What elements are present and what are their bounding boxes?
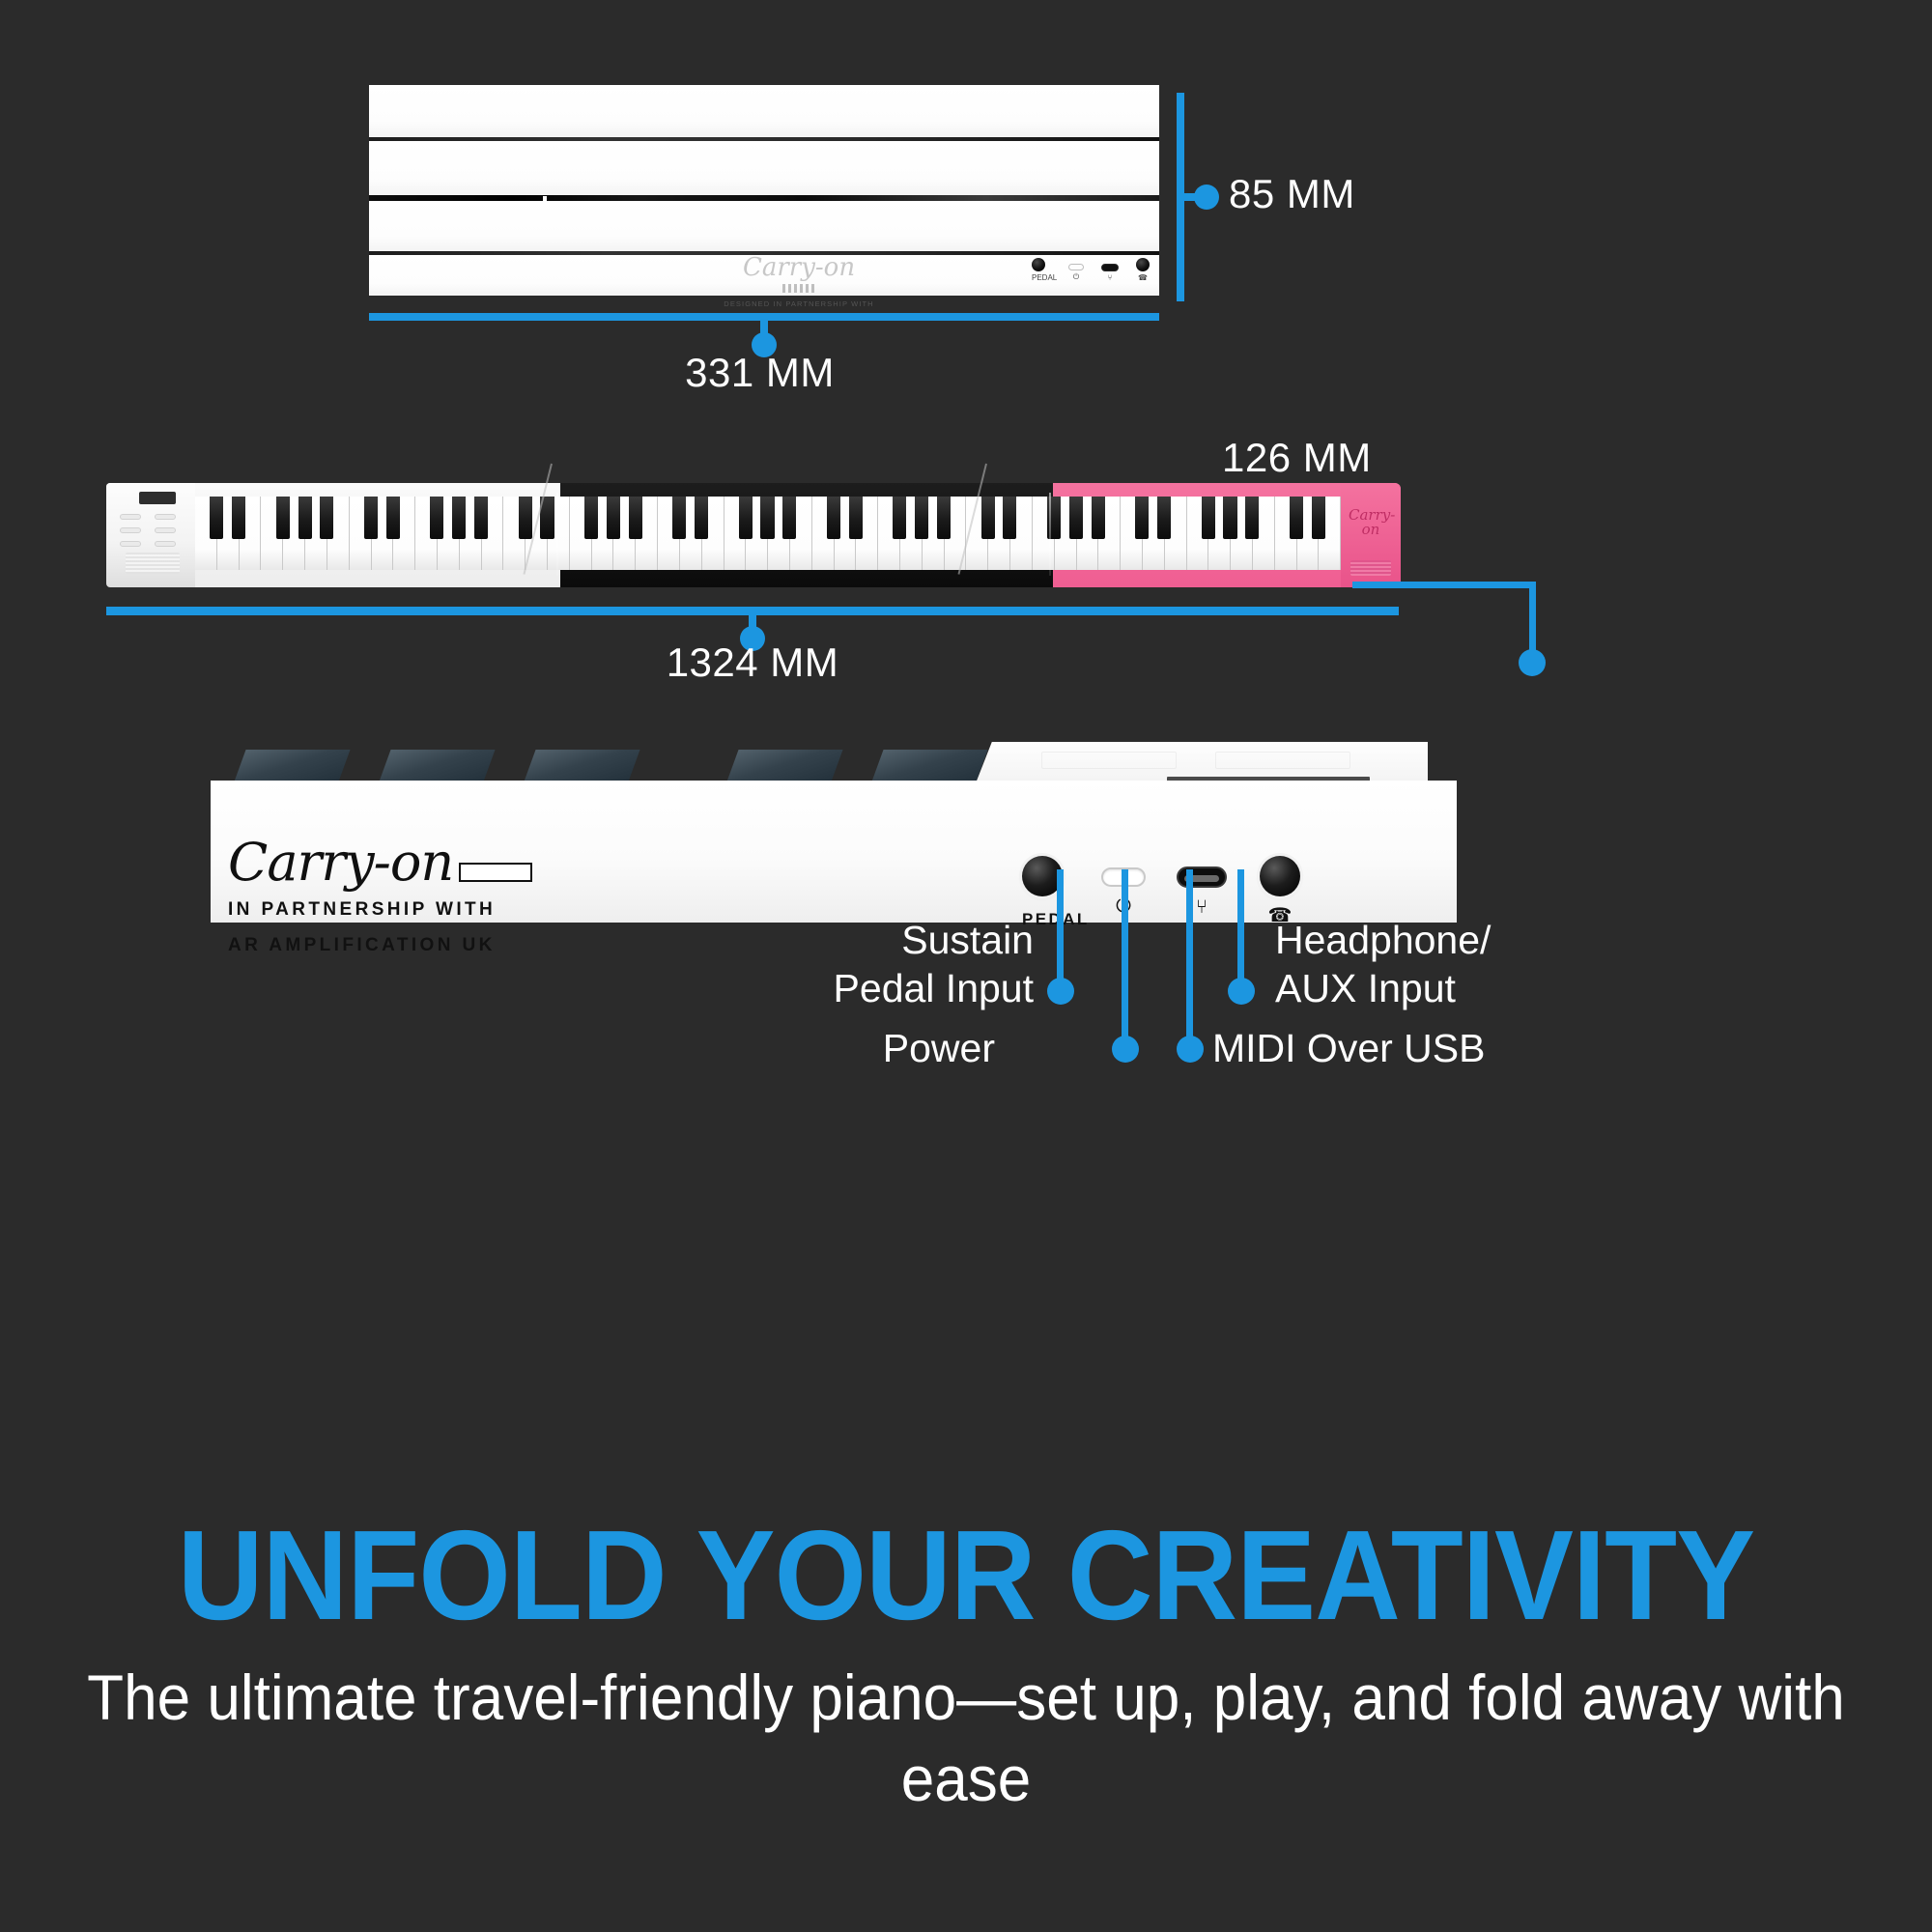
black-key[interactable] [695, 497, 708, 539]
black-key[interactable] [607, 497, 620, 539]
rear-piano-keys-icon [459, 863, 532, 882]
depth-dimension-label: 126 MM [1222, 435, 1372, 481]
black-key[interactable] [430, 497, 443, 539]
rear-black-key-3 [523, 750, 639, 784]
black-key[interactable] [519, 497, 532, 539]
height-dimension-dot [1194, 185, 1219, 210]
black-key[interactable] [849, 497, 863, 539]
black-key[interactable] [981, 497, 995, 539]
black-key[interactable] [1092, 497, 1105, 539]
unfolded-keyboard-image: Carry-on [106, 483, 1401, 587]
usb-c-icon [1101, 264, 1119, 271]
black-key[interactable] [1135, 497, 1149, 539]
black-key[interactable] [1223, 497, 1236, 539]
black-key[interactable] [1202, 497, 1215, 539]
black-key[interactable] [364, 497, 378, 539]
piano-keybed[interactable] [195, 497, 1341, 570]
control-button-1[interactable] [120, 514, 141, 520]
black-key[interactable] [1245, 497, 1259, 539]
endcap-brand-logo: Carry-on [1349, 508, 1393, 537]
black-key[interactable] [320, 497, 333, 539]
black-key[interactable] [276, 497, 290, 539]
pedal-jack-icon [1032, 258, 1045, 271]
power-callout-line [1122, 869, 1128, 1045]
midi-usb-callout-label: MIDI Over USB [1212, 1024, 1485, 1072]
black-key[interactable] [1069, 497, 1083, 539]
rear-black-key-4 [725, 750, 842, 784]
black-key[interactable] [210, 497, 223, 539]
rear-partnership-line-2: AR AMPLIFICATION UK [228, 932, 576, 960]
rear-brand-row: Carry-on [228, 837, 576, 889]
folded-pedal-jack: PEDAL [1032, 258, 1057, 282]
control-button-3[interactable] [120, 527, 141, 533]
control-button-6[interactable] [155, 541, 176, 547]
piano-keys-icon [782, 284, 815, 293]
headphone-jack-icon [1136, 258, 1150, 271]
sustain-pedal-callout-label: Sustain Pedal Input [580, 916, 1034, 1012]
headphone-jack-icon [1260, 856, 1300, 896]
brand-script-text: Carry-on [688, 255, 910, 280]
folded-keyboard-image: Carry-on DESIGNED IN PARTNERSHIP WITH BL… [369, 85, 1159, 296]
hinge-left [556, 493, 558, 576]
control-button-4[interactable] [155, 527, 176, 533]
speaker-grille [126, 553, 180, 574]
control-button-2[interactable] [155, 514, 176, 520]
rear-black-key-2 [378, 750, 495, 784]
depth-dimension-dot [1519, 649, 1546, 676]
black-key[interactable] [827, 497, 840, 539]
usb-c-icon [1177, 867, 1227, 888]
black-key[interactable] [672, 497, 686, 539]
black-key[interactable] [452, 497, 466, 539]
black-key[interactable] [1157, 497, 1171, 539]
infographic-canvas: Carry-on DESIGNED IN PARTNERSHIP WITH BL… [0, 0, 1932, 1932]
depth-dimension-h-line [1352, 582, 1536, 588]
black-key[interactable] [760, 497, 774, 539]
keyboard-endcap-pink: Carry-on [1341, 483, 1401, 587]
power-callout-label: Power [715, 1024, 995, 1072]
rear-face-panel: Carry-on IN PARTNERSHIP WITH AR AMPLIFIC… [211, 781, 1457, 923]
endcap-speaker-grille [1350, 560, 1391, 576]
rear-black-key-1 [233, 750, 350, 784]
black-key[interactable] [937, 497, 951, 539]
usb-icon: ⑂ [1101, 273, 1119, 282]
black-key[interactable] [298, 497, 312, 539]
black-key[interactable] [893, 497, 906, 539]
rear-black-key-5 [870, 750, 987, 784]
midi-usb-callout-dot [1177, 1036, 1204, 1063]
height-dimension-label: 85 MM [1229, 171, 1355, 217]
black-key[interactable] [386, 497, 400, 539]
midi-usb-callout-line [1186, 869, 1193, 1045]
partnership-line-1: DESIGNED IN PARTNERSHIP WITH [688, 299, 910, 309]
width-dimension-label: 331 MM [0, 350, 1520, 396]
headphone-aux-callout-label: Headphone/ AUX Input [1275, 916, 1491, 1012]
folded-usb-port: ⑂ [1101, 264, 1119, 282]
hinge-right [1049, 493, 1051, 576]
folded-ports-group: PEDAL ⏻ ⑂ ☎ [1028, 259, 1153, 294]
height-dimension-line [1177, 93, 1184, 301]
usb-c-port[interactable]: ⑂ [1177, 856, 1227, 917]
fold-layer-3 [369, 201, 1159, 251]
folded-power-switch: ⏻ [1068, 264, 1084, 282]
rear-panel-image: Carry-on IN PARTNERSHIP WITH AR AMPLIFIC… [211, 734, 1457, 923]
rear-brand-logo: Carry-on IN PARTNERSHIP WITH AR AMPLIFIC… [228, 837, 576, 959]
rear-brand-script: Carry-on [228, 832, 453, 893]
power-callout-dot [1112, 1036, 1139, 1063]
black-key[interactable] [1003, 497, 1016, 539]
rear-panel-mark-2 [1215, 752, 1350, 769]
rear-partnership-line-1: IN PARTNERSHIP WITH [228, 896, 576, 924]
fold-layer-1 [369, 85, 1159, 137]
headphone-aux-callout-line [1237, 869, 1244, 990]
page-headline: UNFOLD YOUR CREATIVITY [68, 1502, 1864, 1648]
black-key[interactable] [584, 497, 598, 539]
headphone-aux-callout-dot [1228, 978, 1255, 1005]
control-display-screen [139, 492, 176, 504]
pedal-label: PEDAL [1032, 273, 1057, 282]
control-button-5[interactable] [120, 541, 141, 547]
black-key[interactable] [474, 497, 488, 539]
length-dimension-label: 1324 MM [0, 639, 1505, 686]
folded-headphone-jack: ☎ [1136, 258, 1150, 282]
power-switch-icon [1068, 264, 1084, 270]
black-key[interactable] [1290, 497, 1303, 539]
black-key[interactable] [915, 497, 928, 539]
keyboard-control-panel [106, 483, 195, 587]
length-dimension-line [106, 607, 1399, 615]
sustain-pedal-callout-dot [1047, 978, 1074, 1005]
headphone-icon: ☎ [1136, 273, 1150, 282]
usb-icon: ⑂ [1177, 897, 1227, 917]
rear-panel-mark-1 [1041, 752, 1177, 769]
width-dimension-line [369, 313, 1159, 321]
folded-brand-logo: Carry-on DESIGNED IN PARTNERSHIP WITH BL… [688, 255, 910, 321]
depth-dimension-v-line [1529, 582, 1536, 659]
sustain-pedal-callout-line [1057, 869, 1064, 990]
fold-layer-2 [369, 141, 1159, 195]
power-icon: ⏻ [1068, 272, 1084, 282]
page-subtitle: The ultimate travel-friendly piano—set u… [58, 1657, 1874, 1820]
black-key[interactable] [629, 497, 642, 539]
black-key[interactable] [1312, 497, 1325, 539]
black-key[interactable] [739, 497, 753, 539]
black-key[interactable] [782, 497, 796, 539]
black-key[interactable] [232, 497, 245, 539]
